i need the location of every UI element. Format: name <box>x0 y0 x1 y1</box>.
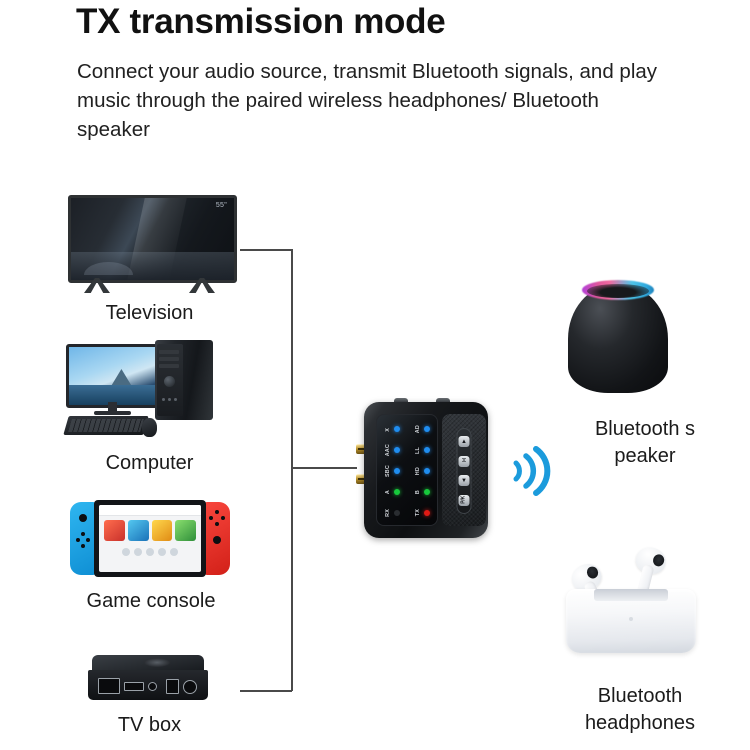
earbud-tip <box>585 565 600 580</box>
caption-line-1: Bluetooth s <box>540 416 750 443</box>
tower-audio-port <box>174 398 177 401</box>
game-tile <box>104 520 125 541</box>
tv-box-av-jack <box>148 682 157 691</box>
joycon-right-face-button <box>209 516 213 520</box>
caption-television: Television <box>62 300 237 327</box>
led-label: SBC <box>385 465 391 477</box>
joycon-left-dpad <box>81 532 85 536</box>
charging-case-led <box>629 617 633 621</box>
computer-tower <box>155 340 213 420</box>
led-sbc: SBC <box>377 461 407 482</box>
earbud-tip <box>652 553 666 567</box>
led-label: HD <box>415 467 421 475</box>
dock-icon <box>134 548 142 556</box>
led-ll: LL <box>407 440 437 461</box>
led-label: AD <box>415 425 421 433</box>
bluetooth-headphones-image <box>556 545 706 655</box>
caption-bluetooth-speaker: Bluetooth s peaker <box>540 416 750 470</box>
tower-drive-bay <box>159 364 179 368</box>
computer-mouse <box>142 418 157 437</box>
led-label: X <box>385 428 391 432</box>
tv-box-logo <box>144 658 170 667</box>
joycon-left-dpad <box>81 544 85 548</box>
tower-drive-bay <box>159 350 179 354</box>
joycon-left-stick <box>79 514 87 522</box>
tv-box-hdmi-port <box>124 682 144 691</box>
joycon-left-dpad <box>76 538 80 542</box>
bluetooth-transmitter-device[interactable]: X AD AAC LL <box>356 398 488 540</box>
tv-box-ethernet-port <box>98 678 120 694</box>
led-label: LL <box>415 447 421 454</box>
bluetooth-speaker-image <box>568 275 668 393</box>
computer-keyboard <box>63 416 148 435</box>
caption-tv-box: TV box <box>62 712 237 739</box>
dock-icon <box>122 548 130 556</box>
caption-line-2: peaker <box>540 443 750 470</box>
speaker-top-inner <box>587 284 649 298</box>
tower-usb-port <box>168 398 171 401</box>
led-x: X <box>377 419 407 440</box>
led-hd: HD <box>407 461 437 482</box>
game-console-image <box>70 500 230 578</box>
console-body <box>94 500 206 577</box>
joycon-left <box>70 502 96 575</box>
led-b: B <box>407 481 437 502</box>
device-led-panel: X AD AAC LL <box>376 414 438 526</box>
tv-box-power-jack <box>183 680 197 694</box>
game-tile <box>128 520 149 541</box>
led-tx: TX <box>407 502 437 523</box>
led-indicator <box>424 468 430 474</box>
page-title: TX transmission mode <box>76 2 445 42</box>
connector-line-tvbox <box>240 690 292 692</box>
led-rx: RX <box>377 502 407 523</box>
power-pair-button[interactable]: P/K <box>459 495 470 506</box>
led-a: A <box>377 481 407 502</box>
console-dock <box>99 544 201 556</box>
joycon-right-face-button <box>215 522 219 526</box>
computer-image <box>66 340 236 440</box>
device-button-pad: ▲ ⧖ ▼ P/K <box>442 414 486 526</box>
screen-size-badge: 55" <box>216 202 227 209</box>
television-image: 55" <box>68 195 231 293</box>
connector-line-to-device <box>291 467 357 469</box>
down-button[interactable]: ▼ <box>459 475 470 486</box>
console-game-tiles <box>99 516 201 544</box>
tv-box-usb-port <box>166 679 179 694</box>
speaker-body <box>568 285 668 393</box>
dock-icon <box>146 548 154 556</box>
led-indicator <box>394 447 400 453</box>
connector-line-television <box>240 249 292 251</box>
joycon-left-dpad <box>86 538 90 542</box>
led-label: RX <box>385 509 391 517</box>
dock-icon <box>158 548 166 556</box>
caption-computer: Computer <box>62 450 237 477</box>
led-indicator <box>394 489 400 495</box>
power-pair-label: P/K <box>462 496 467 504</box>
television-screen: 55" <box>68 195 237 283</box>
tower-power-button <box>164 376 175 387</box>
console-screen <box>99 505 201 572</box>
device-button-column: ▲ ⧖ ▼ P/K <box>457 428 472 514</box>
tx-transmission-mode-infographic: TX transmission mode Connect your audio … <box>0 0 750 750</box>
monitor-base <box>94 411 131 415</box>
tower-drive-bay <box>159 357 179 361</box>
device-body: X AD AAC LL <box>364 402 488 538</box>
led-label: A <box>385 490 391 494</box>
up-button[interactable]: ▲ <box>459 436 470 447</box>
tv-box-front-panel <box>88 670 208 700</box>
led-label: B <box>415 490 421 494</box>
tower-usb-port <box>162 398 165 401</box>
led-aac: AAC <box>377 440 407 461</box>
game-tile <box>152 520 173 541</box>
led-label: AAC <box>385 444 391 456</box>
led-indicator <box>424 510 430 516</box>
led-ad: AD <box>407 419 437 440</box>
joycon-right-face-button <box>221 516 225 520</box>
led-indicator <box>424 489 430 495</box>
charging-case <box>566 589 696 653</box>
game-tile <box>175 520 196 541</box>
charging-case-slot <box>594 589 668 601</box>
joycon-right-face-button <box>215 510 219 514</box>
connector-line-vertical <box>291 249 293 691</box>
console-status-bar <box>99 505 201 516</box>
joycon-right <box>204 502 230 575</box>
led-indicator <box>424 447 430 453</box>
play-pause-button[interactable]: ⧖ <box>459 456 470 467</box>
page-subtitle: Connect your audio source, transmit Blue… <box>77 57 677 144</box>
joycon-right-stick <box>213 536 221 544</box>
caption-bluetooth-headphones: Bluetooth headphones <box>530 683 750 737</box>
led-grid: X AD AAC LL <box>377 419 437 523</box>
computer-monitor <box>66 344 164 408</box>
tv-box-image <box>88 655 208 703</box>
dock-icon <box>170 548 178 556</box>
led-indicator <box>424 426 430 432</box>
caption-game-console: Game console <box>62 588 240 615</box>
led-indicator <box>394 426 400 432</box>
led-indicator <box>394 510 400 516</box>
led-indicator <box>394 468 400 474</box>
caption-line-2: headphones <box>530 710 750 737</box>
led-label: TX <box>415 509 421 516</box>
caption-line-1: Bluetooth <box>530 683 750 710</box>
